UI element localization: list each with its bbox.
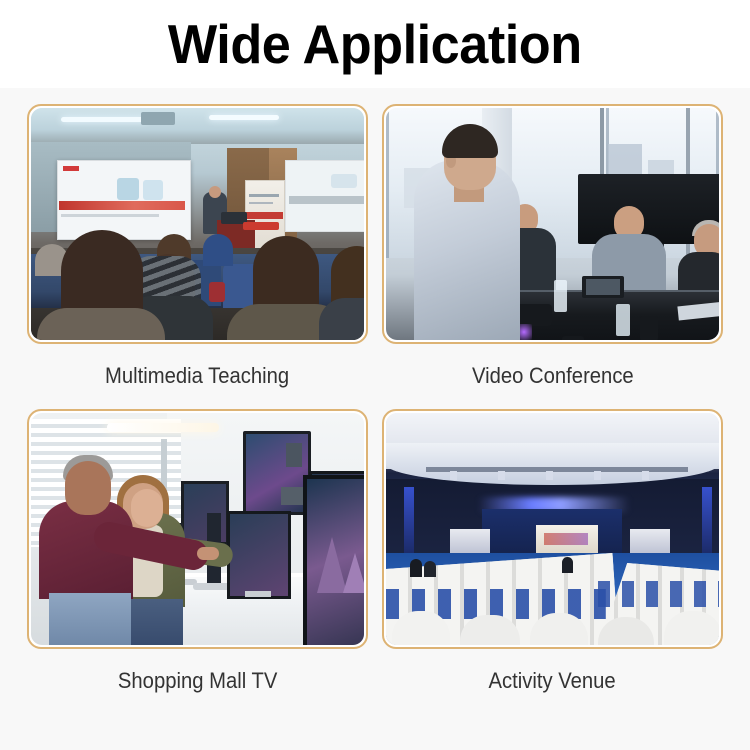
gallery-item-activity-venue[interactable]: Activity Venue: [382, 409, 723, 714]
application-gallery: Multimedia Teaching: [0, 88, 750, 750]
image-card[interactable]: [27, 409, 368, 649]
image-card[interactable]: [27, 104, 368, 344]
photo-shopping-mall-tv: [31, 413, 364, 645]
photo-video-conference: [386, 108, 719, 340]
gallery-item-caption: Video Conference: [472, 344, 634, 409]
gallery-item-caption: Activity Venue: [489, 649, 616, 714]
page-header: Wide Application: [0, 0, 750, 88]
photo-activity-venue: [386, 413, 719, 645]
page-title: Wide Application: [168, 17, 582, 72]
photo-multimedia-teaching: [31, 108, 364, 340]
image-card[interactable]: [382, 409, 723, 649]
image-card[interactable]: [382, 104, 723, 344]
gallery-item-caption: Multimedia Teaching: [105, 344, 289, 409]
gallery-item-caption: Shopping Mall TV: [118, 649, 277, 714]
gallery-item-multimedia-teaching[interactable]: Multimedia Teaching: [27, 104, 368, 409]
gallery-item-shopping-mall-tv[interactable]: Shopping Mall TV: [27, 409, 368, 714]
gallery-item-video-conference[interactable]: Video Conference: [382, 104, 723, 409]
gallery-grid: Multimedia Teaching: [27, 104, 723, 714]
